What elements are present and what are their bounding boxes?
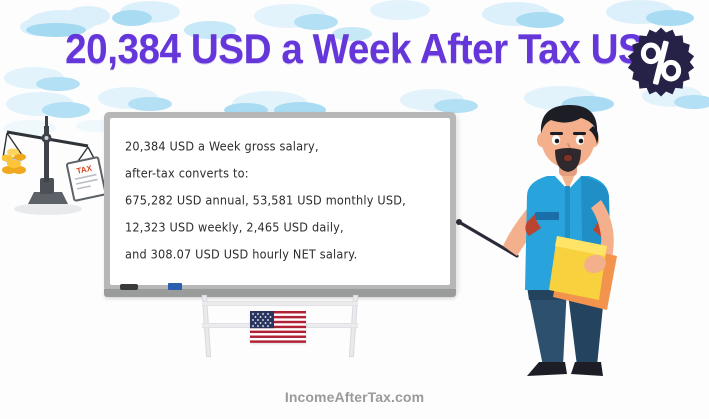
blue-marker-icon — [168, 283, 182, 290]
eraser-icon — [120, 284, 138, 290]
board-line-3: 675,282 USD annual, 53,581 USD monthly U… — [125, 185, 440, 215]
tax-document-icon: TAX — [67, 157, 106, 201]
whiteboard-surface: 20,384 USD a Week gross salary, after-ta… — [110, 118, 450, 285]
page-title: 20,384 USD a Week After Tax US — [65, 28, 643, 70]
shoes — [527, 362, 603, 376]
board-line-1: 20,384 USD a Week gross salary, — [125, 131, 440, 161]
balance-scales-illustration: TAX — [2, 112, 106, 220]
us-flag-icon — [250, 311, 306, 343]
board-line-4: 12,323 USD weekly, 2,465 USD daily, — [125, 212, 440, 242]
percent-badge-icon — [625, 26, 697, 98]
title-row: 20,384 USD a Week After Tax US — [0, 18, 709, 80]
presenter-illustration — [455, 104, 670, 386]
board-line-5: and 308.07 USD USD hourly NET salary. — [125, 239, 440, 269]
whiteboard-text: 20,384 USD a Week gross salary, after-ta… — [125, 133, 440, 268]
whiteboard-stand — [196, 295, 364, 357]
banner-root: 20,384 USD a Week After Tax US — [0, 0, 709, 419]
whiteboard-frame: 20,384 USD a Week gross salary, after-ta… — [104, 112, 456, 292]
site-footer: IncomeAfterTax.com — [0, 389, 709, 405]
board-line-2: after-tax converts to: — [125, 158, 440, 188]
gold-coins-icon — [2, 149, 26, 175]
whiteboard: 20,384 USD a Week gross salary, after-ta… — [104, 112, 456, 292]
stand-bar-top — [202, 301, 358, 306]
